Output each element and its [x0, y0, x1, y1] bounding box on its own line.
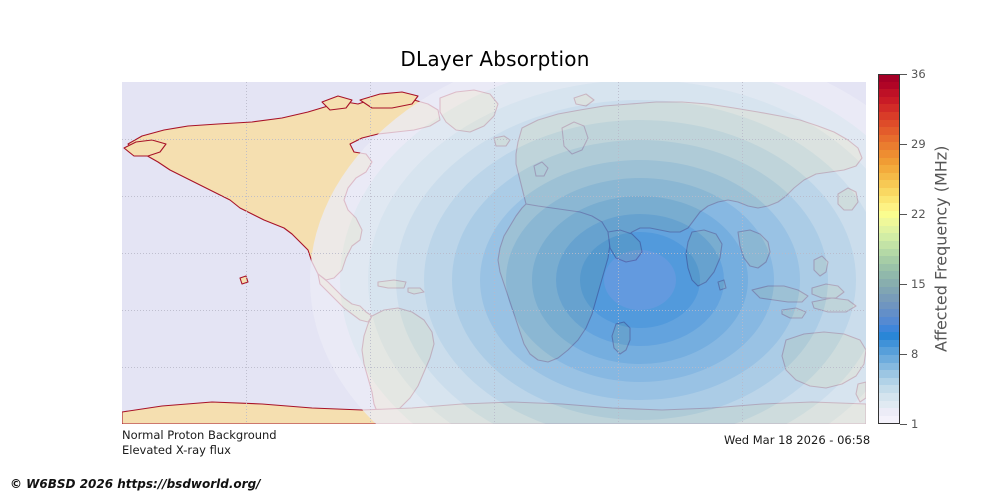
colorbar-tick-label: 15	[911, 277, 926, 291]
world-map-panel[interactable]	[122, 82, 866, 424]
colorbar-band	[878, 142, 900, 150]
colorbar-band	[878, 355, 900, 363]
colorbar-band	[878, 180, 900, 188]
colorbar-band	[878, 165, 900, 173]
page-title: DLayer Absorption	[0, 47, 990, 71]
colorbar-band	[878, 74, 900, 82]
colorbar-band	[878, 233, 900, 241]
colorbar-band	[878, 363, 900, 371]
colorbar-band	[878, 203, 900, 211]
colorbar-band	[878, 241, 900, 249]
colorbar-band	[878, 317, 900, 325]
colorbar-band	[878, 188, 900, 196]
colorbar-band	[878, 112, 900, 120]
status-line-xray: Elevated X-ray flux	[122, 443, 277, 458]
colorbar-band	[878, 279, 900, 287]
colorbar-tick-mark	[900, 354, 907, 355]
colorbar-band	[878, 416, 900, 424]
colorbar-band	[878, 264, 900, 272]
colorbar-band	[878, 150, 900, 158]
colorbar-band	[878, 271, 900, 279]
colorbar-band	[878, 294, 900, 302]
colorbar-band	[878, 135, 900, 143]
colorbar-band	[878, 401, 900, 409]
status-notes: Normal Proton Background Elevated X-ray …	[122, 428, 277, 458]
colorbar-band	[878, 287, 900, 295]
colorbar-tick-label: 36	[911, 67, 926, 81]
colorbar-band	[878, 104, 900, 112]
copyright-label: © W6BSD 2026 https://bsdworld.org/	[10, 477, 261, 491]
colorbar-tick-label: 29	[911, 137, 926, 151]
colorbar-band	[878, 226, 900, 234]
colorbar-tick-label: 22	[911, 207, 926, 221]
colorbar-band	[878, 127, 900, 135]
colorbar-band	[878, 378, 900, 386]
colorbar-band	[878, 393, 900, 401]
colorbar-band	[878, 325, 900, 333]
colorbar-tick-mark	[900, 214, 907, 215]
status-line-proton: Normal Proton Background	[122, 428, 277, 443]
colorbar-band	[878, 158, 900, 166]
colorbar-gradient	[878, 74, 900, 424]
colorbar-tick-mark	[900, 74, 907, 75]
colorbar-tick-label: 1	[911, 417, 918, 431]
colorbar-tick-mark	[900, 284, 907, 285]
colorbar-band	[878, 302, 900, 310]
colorbar-tick-mark	[900, 424, 907, 425]
world-map-coastlines	[122, 82, 866, 424]
colorbar-band	[878, 256, 900, 264]
colorbar-band	[878, 340, 900, 348]
colorbar-band	[878, 218, 900, 226]
colorbar-band	[878, 120, 900, 128]
colorbar-band	[878, 370, 900, 378]
colorbar-band	[878, 82, 900, 90]
timestamp-label: Wed Mar 18 2026 - 06:58	[724, 433, 870, 447]
colorbar-band	[878, 309, 900, 317]
colorbar[interactable]: 3629221581 Max	[878, 74, 900, 424]
colorbar-band	[878, 332, 900, 340]
colorbar-band	[878, 385, 900, 393]
colorbar-band	[878, 408, 900, 416]
colorbar-band	[878, 196, 900, 204]
colorbar-band	[878, 173, 900, 181]
colorbar-band	[878, 97, 900, 105]
colorbar-band	[878, 249, 900, 257]
colorbar-tick-mark	[900, 144, 907, 145]
colorbar-axis-label: Affected Frequency (MHz)	[931, 74, 951, 424]
colorbar-band	[878, 89, 900, 97]
colorbar-band	[878, 211, 900, 219]
colorbar-band	[878, 347, 900, 355]
colorbar-tick-label: 8	[911, 347, 918, 361]
